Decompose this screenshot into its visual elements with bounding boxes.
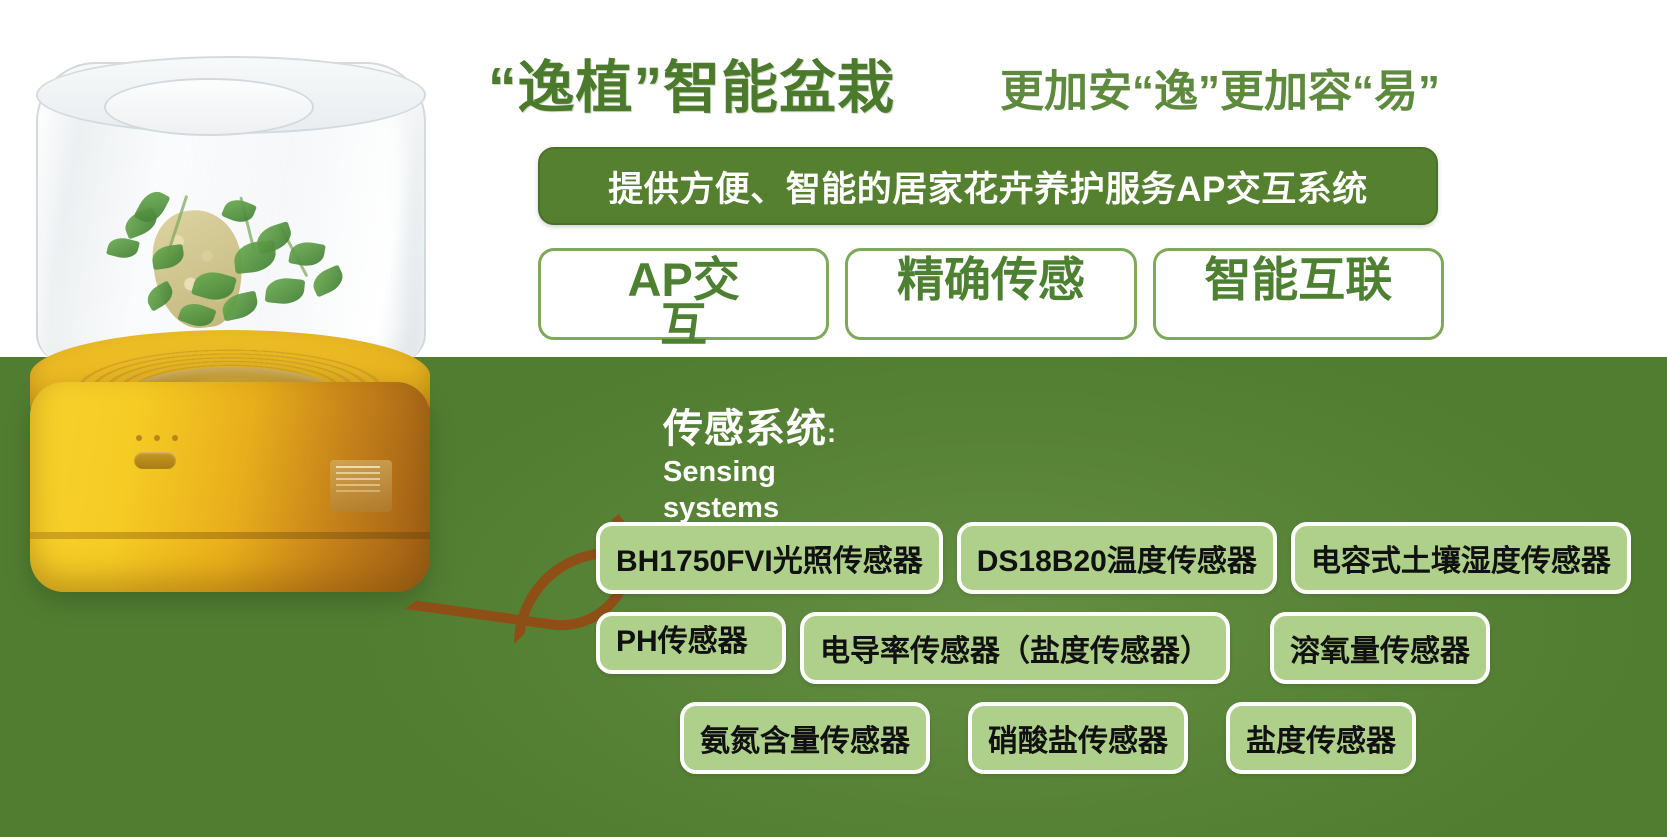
sensor-tag-row: 氨氮含量传感器 硝酸盐传感器 盐度传感器 — [596, 702, 1586, 774]
planter-lid-icon — [104, 78, 314, 136]
power-button-icon — [134, 452, 176, 469]
product-image — [8, 62, 478, 607]
tagline-text: 提供方便、智能的居家花卉养护服务AP交互系统 — [608, 161, 1368, 212]
sensor-tag[interactable]: 电导率传感器（盐度传感器） — [800, 612, 1230, 684]
sensing-heading-colon: : — [827, 418, 837, 448]
sensor-tag[interactable]: 溶氧量传感器 — [1270, 612, 1490, 684]
sensor-tag[interactable]: 硝酸盐传感器 — [968, 702, 1188, 774]
feature-card-smart-connectivity[interactable]: 智能互联 — [1153, 248, 1444, 340]
sensor-tag-row: BH1750FVI光照传感器 DS18B20温度传感器 电容式土壤湿度传感器 — [596, 522, 1586, 594]
rating-label-icon — [330, 460, 392, 512]
feature-card-ap-interaction[interactable]: AP交互 — [538, 248, 829, 340]
sensing-heading-en: Sensing systems — [663, 454, 788, 527]
page-title: “逸植”智能盆栽 — [488, 42, 895, 124]
sensing-heading-cn-wrap: 传感系统: — [663, 408, 963, 450]
sensor-tag[interactable]: 电容式土壤湿度传感器 — [1291, 522, 1631, 594]
sensor-tag[interactable]: 氨氮含量传感器 — [680, 702, 930, 774]
tagline-banner: 提供方便、智能的居家花卉养护服务AP交互系统 — [538, 147, 1438, 225]
sensor-tag[interactable]: DS18B20温度传感器 — [957, 522, 1277, 594]
sensor-tag-row: PH传感器 电导率传感器（盐度传感器） 溶氧量传感器 — [596, 612, 1586, 684]
feature-card-label: 精确传感 — [848, 257, 1133, 302]
page-subtitle: 更加安“逸”更加容“易” — [1000, 55, 1440, 119]
slide-root: “逸植”智能盆栽 更加安“逸”更加容“易” 提供方便、智能的居家花卉养护服务AP… — [0, 0, 1667, 837]
sensor-tag[interactable]: BH1750FVI光照传感器 — [596, 522, 943, 594]
planter-base-seam — [30, 532, 430, 539]
sensor-tag-groups: BH1750FVI光照传感器 DS18B20温度传感器 电容式土壤湿度传感器 P… — [596, 522, 1586, 792]
sensor-tag[interactable]: PH传感器 — [596, 612, 786, 674]
sensor-tag[interactable]: 盐度传感器 — [1226, 702, 1416, 774]
sensing-section-heading: 传感系统: Sensing systems — [663, 408, 963, 527]
feature-card-row: AP交互 精确传感 智能互联 — [538, 248, 1444, 340]
feature-card-precise-sensing[interactable]: 精确传感 — [845, 248, 1136, 340]
status-led-icons — [136, 435, 184, 443]
feature-card-label: 智能互联 — [1156, 257, 1441, 302]
sensing-heading-cn: 传感系统 — [663, 407, 827, 451]
feature-card-label: AP交互 — [624, 257, 744, 347]
